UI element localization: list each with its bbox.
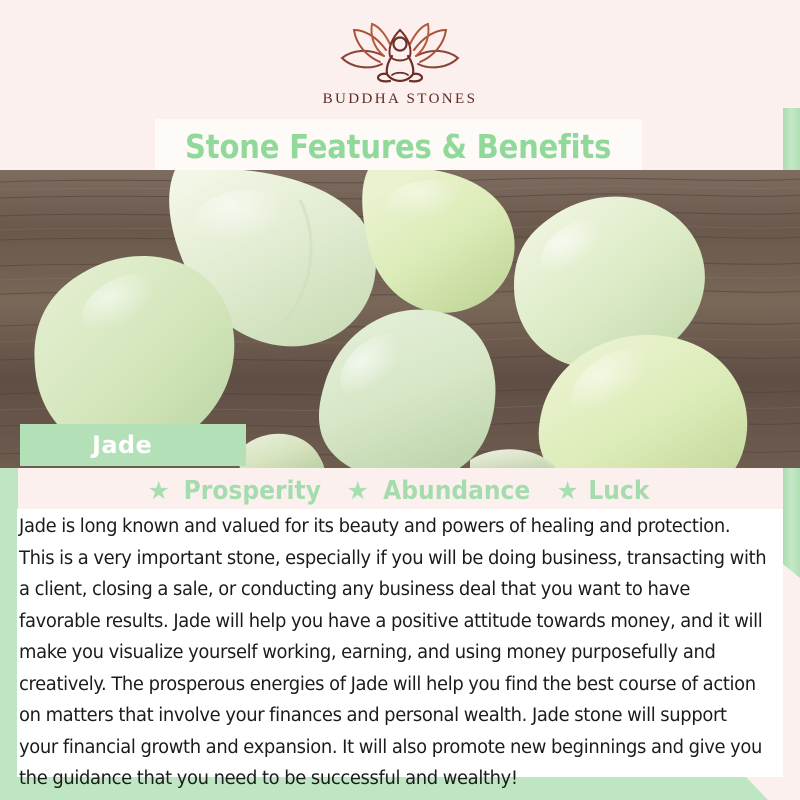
section-title-banner: Stone Features & Benefits (155, 119, 642, 173)
benefit-item: ★ Luck (556, 476, 652, 506)
benefit-label: Prosperity (184, 476, 321, 506)
stone-name-text: Jade (92, 431, 152, 459)
page-title: Stone Features & Benefits (185, 127, 611, 166)
brand-name: BUDDHA STONES (323, 91, 478, 108)
benefit-label: Luck (588, 476, 649, 506)
star-icon: ★ (556, 479, 578, 504)
decor-band-left-lower (0, 463, 18, 800)
star-icon: ★ (346, 479, 368, 504)
stone-name-label: Jade (20, 424, 246, 466)
description-text: Jade is long known and valued for its be… (19, 511, 768, 795)
benefit-item: ★ Abundance (346, 476, 538, 506)
page-root: BUDDHA STONES Stone Features & Benefits (0, 0, 800, 800)
description-block: Jade is long known and valued for its be… (17, 509, 783, 777)
star-icon: ★ (147, 479, 169, 504)
lotus-meditation-icon (334, 22, 466, 84)
benefits-row: ★ Prosperity ★ Abundance ★ Luck (0, 474, 800, 508)
benefit-label: Abundance (383, 476, 530, 506)
benefit-item: ★ Prosperity (147, 476, 328, 506)
brand-logo: BUDDHA STONES (0, 0, 800, 118)
